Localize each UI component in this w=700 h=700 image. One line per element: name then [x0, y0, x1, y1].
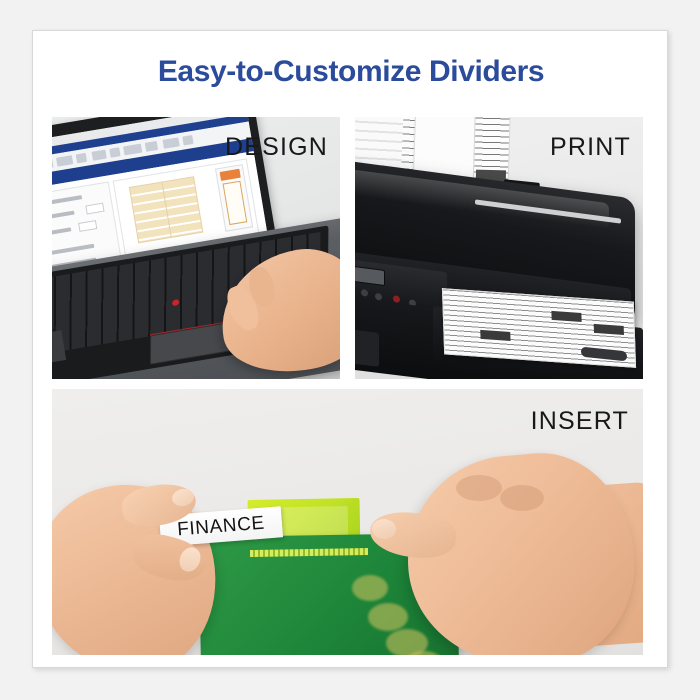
design-photo: DESIGN: [52, 117, 340, 379]
panel-label-print: PRINT: [550, 133, 631, 162]
printer-front-cover[interactable]: [355, 329, 379, 367]
thumbnail-panel: [215, 164, 253, 232]
panel-label-insert: INSERT: [531, 407, 629, 436]
divider-template-grid: [129, 176, 204, 243]
print-photo: PRINT: [355, 117, 643, 379]
panel-insert: FINANCE INSERT: [52, 389, 643, 655]
page-background: Easy-to-Customize Dividers: [0, 0, 700, 700]
printer-lcd-display: [355, 265, 385, 287]
label-strip-text: FINANCE: [176, 512, 265, 541]
printer-button[interactable]: [375, 293, 382, 301]
knuckle: [500, 485, 544, 511]
insert-photo: FINANCE INSERT: [52, 389, 643, 655]
product-feature-card: Easy-to-Customize Dividers: [32, 30, 668, 668]
knuckle: [456, 475, 502, 501]
panel-print: PRINT: [355, 117, 643, 379]
printer-button[interactable]: [361, 289, 368, 297]
finger-showthrough: [368, 603, 408, 631]
panel-label-design: DESIGN: [225, 133, 328, 162]
page-title: Easy-to-Customize Dividers: [33, 55, 668, 89]
lid-highlight: [355, 169, 609, 230]
panel-design: DESIGN: [52, 117, 340, 379]
finger-showthrough: [352, 575, 388, 601]
